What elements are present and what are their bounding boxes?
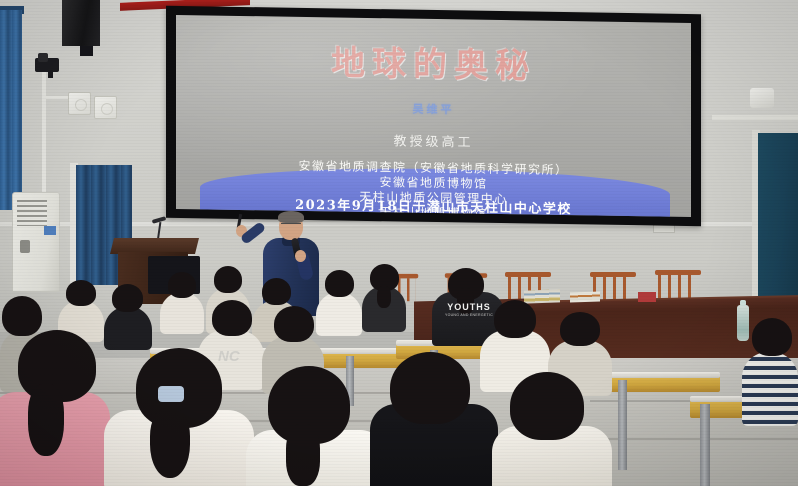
- wall-mounted-box: [750, 88, 774, 108]
- shirt-text-nc: NC: [218, 348, 240, 365]
- red-box-item[interactable]: [638, 292, 656, 302]
- projection-surface: 地球的奥秘 吴维平 教授级高工 安徽省地质调查院（安徽省地质科学研究所） 安徽省…: [176, 15, 691, 217]
- water-bottle[interactable]: [737, 305, 749, 341]
- camera-arm: [48, 70, 53, 78]
- shirt-text-youths: YOUTHS: [441, 302, 497, 312]
- presentation-slide: 地球的奥秘 吴维平 教授级高工 安徽省地质调查院（安徽省地质科学研究所） 安徽省…: [176, 15, 691, 217]
- slide-author: 吴维平: [176, 97, 691, 121]
- desk-leg: [700, 404, 710, 486]
- hair-clip-icon: [158, 386, 184, 402]
- desk-leg: [618, 380, 627, 470]
- wall-socket-icon[interactable]: [68, 92, 91, 115]
- ceiling-speaker-icon: [62, 0, 100, 46]
- speaker-mount: [80, 46, 93, 56]
- wall-conduit: [42, 72, 46, 202]
- slide-rank: 教授级高工: [176, 127, 691, 154]
- air-conditioner-vents: [17, 200, 47, 226]
- air-conditioner-badge: [44, 226, 56, 235]
- wall-socket-icon[interactable]: [94, 96, 117, 119]
- wall-ledge: [712, 115, 798, 120]
- student-desk-edge: [610, 372, 720, 378]
- slide-title: 地球的奥秘: [176, 33, 691, 90]
- air-conditioner-panel[interactable]: [20, 240, 30, 253]
- presenter-left-hand: [295, 250, 306, 262]
- classroom-scene: 地球的奥秘 吴维平 教授级高工 安徽省地质调查院（安徽省地质科学研究所） 安徽省…: [0, 0, 798, 486]
- book-stack[interactable]: [524, 289, 560, 303]
- floor-seam: [600, 438, 798, 440]
- presenter-hair: [278, 211, 304, 223]
- projection-screen: 地球的奥秘 吴维平 教授级高工 安徽省地质调查院（安徽省地质科学研究所） 安徽省…: [166, 6, 701, 226]
- book-stack[interactable]: [570, 291, 600, 302]
- window-curtain: [0, 10, 22, 210]
- shirt-subtext: YOUNG AND ENERGETIC: [441, 313, 497, 317]
- glasses-icon: [281, 223, 301, 227]
- camera-lens-icon: [38, 53, 48, 62]
